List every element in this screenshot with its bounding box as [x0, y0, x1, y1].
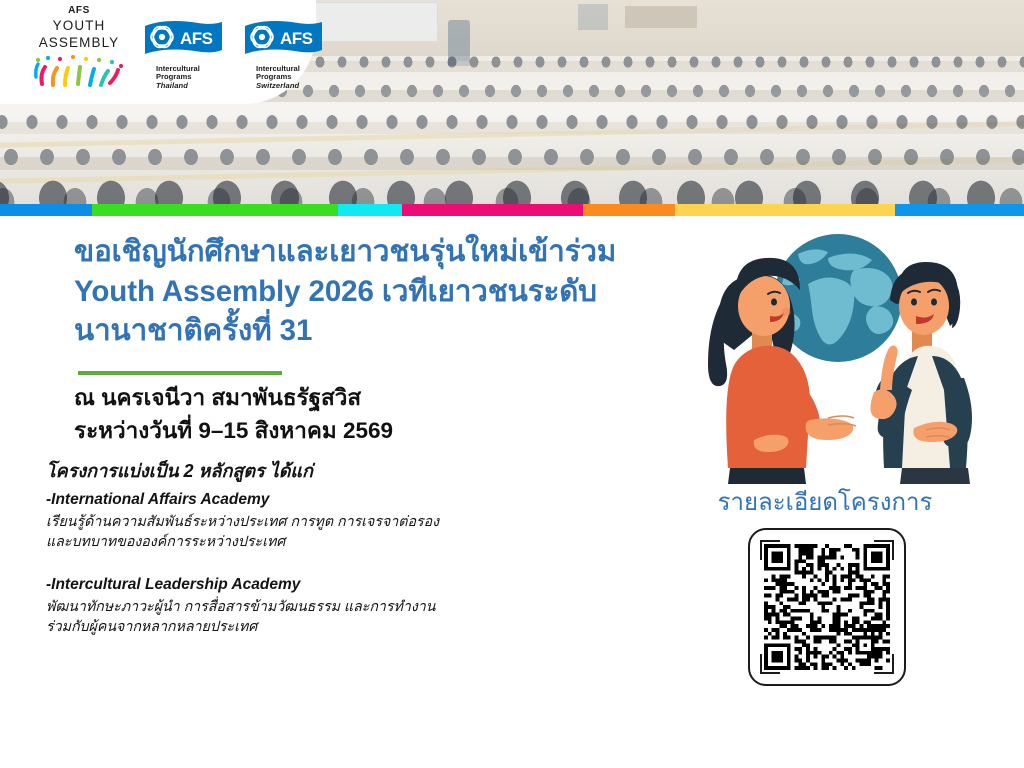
program-description-line: เรียนรู้ด้านความสัมพันธ์ระหว่างประเทศ กา…: [46, 512, 606, 532]
promotional-poster: AFS YOUTH ASSEMBLY: [0, 0, 1024, 768]
afs-switzerland-caption: Intercultural Programs Switzerland: [240, 65, 326, 91]
svg-text:AFS: AFS: [280, 29, 313, 48]
stripe-segment-green: [92, 204, 338, 216]
afs-switzerland-country: Switzerland: [256, 82, 326, 91]
programs-section: โครงการแบ่งเป็น 2 หลักสูตร ได้แก่ -Inter…: [46, 460, 606, 637]
stripe-segment-magenta: [402, 204, 583, 216]
logo-afs-switzerland: AFS Intercultural Programs Switzerland: [240, 18, 326, 91]
afs-thailand-caption-line2: Programs: [156, 72, 191, 81]
stripe-segment-orange: [583, 204, 675, 216]
poster-body: ขอเชิญนักศึกษาและเยาวชนรุ่นใหม่เข้าร่วม …: [0, 216, 1024, 768]
header-photo-band: AFS YOUTH ASSEMBLY: [0, 0, 1024, 204]
afs-thailand-caption: Intercultural Programs Thailand: [140, 65, 226, 91]
logo-afs-youth-assembly: AFS YOUTH ASSEMBLY: [32, 6, 126, 90]
afs-flag-icon: AFS: [240, 18, 326, 64]
afs-youth-assembly-afs-text: AFS: [32, 6, 126, 16]
afs-youth-assembly-line1: YOUTH: [32, 18, 126, 34]
programs-intro: โครงการแบ่งเป็น 2 หลักสูตร ได้แก่: [46, 460, 606, 483]
logo-afs-thailand: AFS Intercultural Programs Thailand: [140, 18, 226, 91]
qr-corner-top-right-icon: [874, 540, 894, 560]
program-name: -Intercultural Leadership Academy: [46, 575, 606, 596]
foreground-audience-row-front: [0, 152, 1024, 204]
program-item: -Intercultural Leadership Academy พัฒนาท…: [46, 575, 606, 637]
hall-wall-panel-right: [625, 6, 697, 28]
qr-caption: รายละเอียดโครงการ: [700, 489, 950, 518]
program-item: -International Affairs Academy เรียนรู้ด…: [46, 490, 606, 552]
audience-tier-3: [0, 104, 1024, 134]
stripe-segment-cyan: [338, 204, 402, 216]
program-description-line: และบทบาทขององค์การระหว่างประเทศ: [46, 532, 606, 552]
qr-corner-bottom-right-icon: [874, 654, 894, 674]
program-name: -International Affairs Academy: [46, 490, 606, 511]
illustration-svg: [678, 222, 990, 484]
event-dates: ระหว่างวันที่ 9–15 สิงหาคม 2569: [74, 415, 634, 448]
qr-corner-bottom-left-icon: [760, 654, 780, 674]
qr-code[interactable]: [748, 528, 906, 686]
qr-matrix-icon: [764, 544, 890, 670]
globe-icon: [774, 234, 902, 362]
page-title: ขอเชิญนักศึกษาและเยาวชนรุ่นใหม่เข้าร่วม …: [74, 232, 634, 351]
hall-wall-panel-left: [578, 4, 608, 30]
stripe-segment-yellow: [675, 204, 895, 216]
qr-corner-top-left-icon: [760, 540, 780, 560]
afs-flag-icon: AFS: [140, 18, 226, 64]
confetti-burst-icon: [32, 54, 126, 88]
afs-thailand-country: Thailand: [156, 82, 226, 91]
afs-switzerland-caption-line2: Programs: [256, 72, 291, 81]
afs-youth-assembly-line2: ASSEMBLY: [32, 35, 126, 51]
two-people-with-globe-illustration: [678, 222, 990, 484]
event-details: ณ นครเจนีวา สมาพันธรัฐสวิส ระหว่างวันที่…: [74, 382, 634, 448]
program-description-line: พัฒนาทักษะภาวะผู้นำ การสื่อสารข้ามวัฒนธร…: [46, 597, 606, 617]
stripe-segment-blue2: [895, 204, 1024, 216]
stripe-segment-blue: [0, 204, 92, 216]
program-description-line: ร่วมกับผู้คนจากหลากหลายประเทศ: [46, 617, 606, 637]
event-location: ณ นครเจนีวา สมาพันธรัฐสวิส: [74, 382, 634, 415]
logo-plate: AFS YOUTH ASSEMBLY: [0, 0, 316, 104]
color-stripe-band: [0, 204, 1024, 216]
divider: [78, 371, 282, 375]
svg-text:AFS: AFS: [180, 29, 213, 48]
